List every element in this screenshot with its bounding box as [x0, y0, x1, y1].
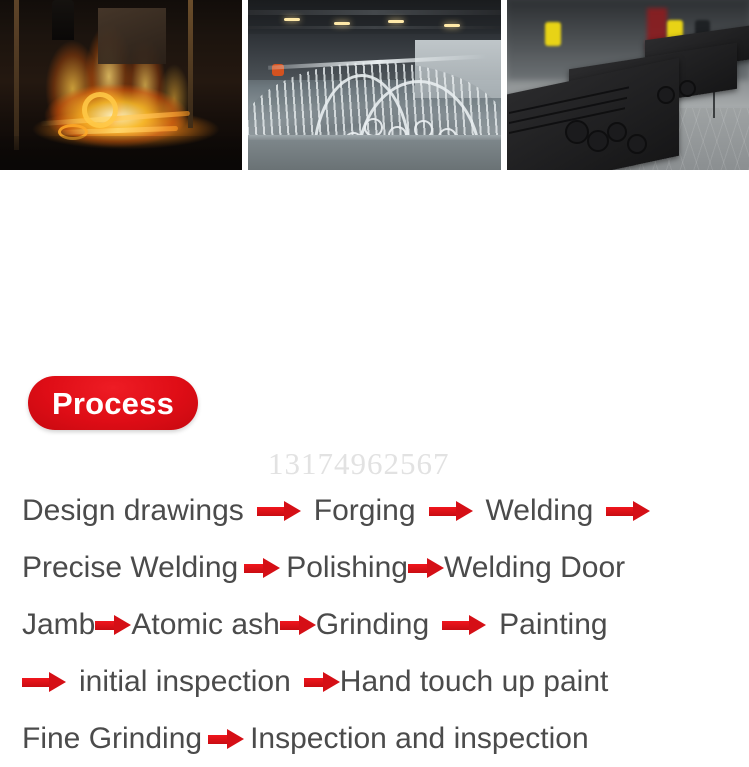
factory-lamp	[444, 24, 460, 27]
arrow-head	[49, 672, 66, 692]
arrow-head	[114, 615, 131, 635]
process-line-5: Fine Grinding Inspection and inspection	[0, 710, 749, 767]
arrow-head	[633, 501, 650, 521]
arrow-head	[456, 501, 473, 521]
arrow-right-icon	[429, 501, 473, 521]
furnace-back-plate	[98, 8, 166, 64]
arrow-head	[469, 615, 486, 635]
process-line-4: initial inspection Hand touch up paint	[0, 653, 749, 710]
process-step-precise-welding: Precise Welding	[22, 553, 238, 583]
furnace-floor	[0, 136, 242, 170]
process-section: Process 13174962567 Design drawings Forg…	[0, 170, 749, 597]
process-step-hand-touch-up-paint: Hand touch up paint	[340, 667, 609, 697]
arrow-shaft	[208, 735, 228, 744]
process-step-design-drawings: Design drawings	[22, 496, 244, 526]
painted-doors-image	[507, 0, 749, 170]
factory-lamp	[334, 22, 350, 25]
process-step-inspection-and-inspection: Inspection and inspection	[250, 724, 589, 754]
arrow-right-icon	[208, 729, 244, 749]
process-flow: Design drawings Forging Welding Pre	[0, 482, 749, 767]
process-step-grinding: Grinding	[316, 610, 429, 640]
arrow-right-icon	[442, 615, 486, 635]
factory-lamp	[284, 18, 300, 21]
arrow-head	[263, 558, 280, 578]
arrow-shaft	[257, 507, 285, 516]
factory-floor	[248, 140, 501, 170]
photo-welded-dome-frame[interactable]	[248, 0, 501, 170]
scrollwork-motif	[627, 134, 647, 154]
arrow-shaft	[408, 564, 428, 573]
process-line-1: Design drawings Forging Welding	[0, 482, 749, 539]
arrow-shaft	[280, 621, 300, 630]
process-step-welding-door: Welding Door	[444, 553, 625, 583]
arrow-right-icon	[280, 615, 316, 635]
arrow-right-icon	[257, 501, 301, 521]
furnace-post-right	[188, 0, 193, 128]
arrow-shaft	[304, 678, 324, 687]
factory-roof-beam	[248, 10, 501, 15]
process-badge-label: Process	[52, 388, 174, 419]
process-photo-strip	[0, 0, 749, 170]
arrow-right-icon	[606, 501, 650, 521]
dome-frame-image	[248, 0, 501, 170]
scrollwork-motif	[657, 86, 675, 104]
process-step-welding: Welding	[486, 496, 594, 526]
arrow-shaft	[606, 507, 634, 516]
arrow-right-icon	[95, 615, 131, 635]
arrow-right-icon	[304, 672, 340, 692]
furnace-post-left	[14, 0, 19, 150]
process-line-2: Precise Welding Polishing Welding Door	[0, 539, 749, 596]
arrow-head	[323, 672, 340, 692]
phone-number-watermark: 13174962567	[268, 446, 450, 482]
arrow-shaft	[442, 621, 470, 630]
arrow-head	[427, 558, 444, 578]
arrow-shaft	[22, 678, 50, 687]
process-step-forging: Forging	[314, 496, 416, 526]
process-badge: Process	[28, 376, 198, 430]
process-step-atomic-ash: Atomic ash	[131, 610, 279, 640]
arrow-right-icon	[244, 558, 280, 578]
factory-lamp	[388, 20, 404, 23]
photo-painted-iron-doors[interactable]	[507, 0, 749, 170]
scrollwork-motif	[565, 120, 589, 144]
trestle-leg	[713, 92, 715, 118]
process-step-painting: Painting	[499, 610, 607, 640]
arrow-head	[299, 615, 316, 635]
arrow-shaft	[429, 507, 457, 516]
process-step-polishing: Polishing	[286, 553, 408, 583]
worker-in-yellow-vest	[545, 22, 561, 46]
glowing-iron-coil	[82, 92, 118, 128]
process-line-3: Jamb Atomic ash Grinding Painting	[0, 596, 749, 653]
scrollwork-motif	[587, 130, 609, 152]
process-step-initial-inspection: initial inspection	[79, 667, 291, 697]
forge-furnace-image	[0, 0, 242, 170]
arrow-head	[227, 729, 244, 749]
arrow-right-icon	[408, 558, 444, 578]
worker-silhouette	[52, 0, 74, 40]
process-step-jamb: Jamb	[22, 610, 95, 640]
arrow-shaft	[244, 564, 264, 573]
factory-roof-beam	[248, 26, 501, 29]
process-step-fine-grinding: Fine Grinding	[22, 724, 202, 754]
arrow-shaft	[95, 621, 115, 630]
scrollwork-motif	[679, 80, 696, 97]
scrollwork-motif	[607, 122, 627, 142]
photo-forging-furnace[interactable]	[0, 0, 242, 170]
arrow-head	[284, 501, 301, 521]
arrow-right-icon	[22, 672, 66, 692]
